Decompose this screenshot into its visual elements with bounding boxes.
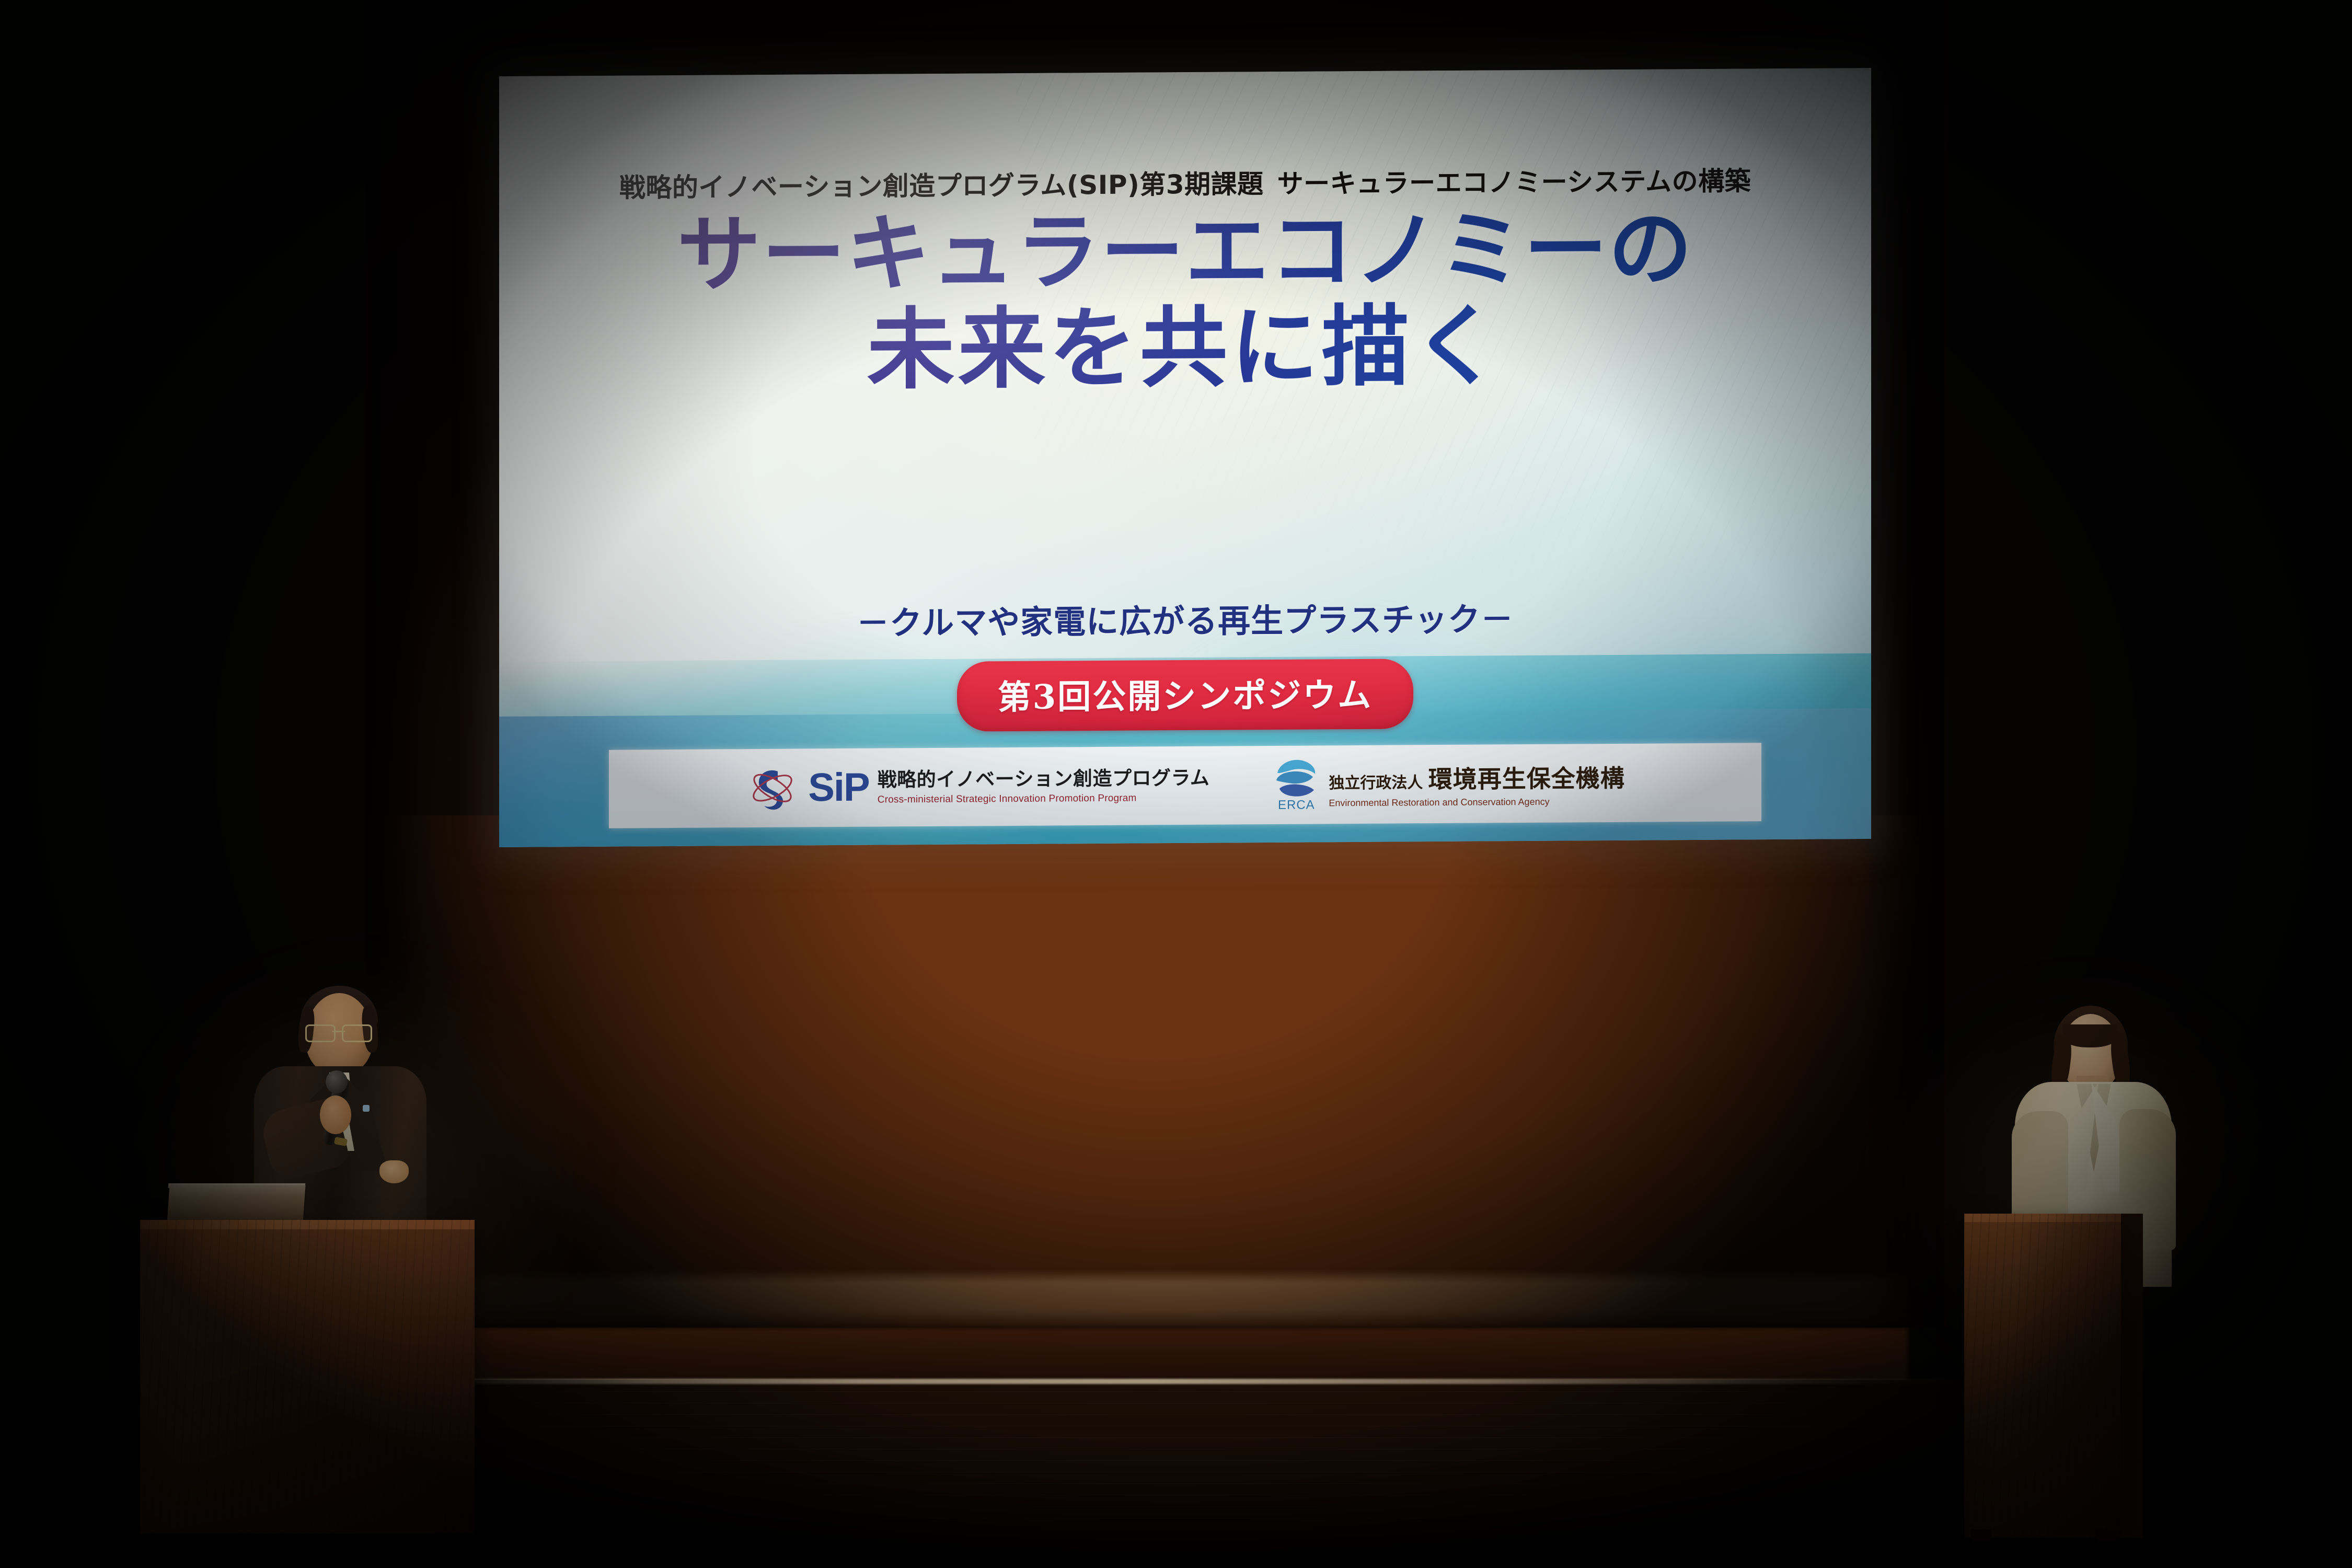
erca-name-jp: 独立行政法人 環境再生保全機構 — [1329, 759, 1624, 795]
projection-screen: 戦略的イノベーション創造プログラム(SIP)第3期課題サーキュラーエコノミーシス… — [499, 68, 1871, 847]
slide-kicker: 戦略的イノベーション創造プログラム(SIP)第3期課題サーキュラーエコノミーシス… — [499, 159, 1871, 205]
slide-badge-row: 第3回公開シンポジウム — [499, 656, 1871, 734]
sip-name-jp: 戦略的イノベーション創造プログラム — [878, 767, 1210, 791]
podium-left-shading — [140, 1220, 475, 1534]
erca-mark-wrap: ERCA — [1272, 757, 1320, 813]
title-line-2: 未来を共に描く — [499, 298, 1871, 398]
erca-name-prefix: 独立行政法人 — [1329, 774, 1423, 792]
left-speaker-hand — [320, 1096, 351, 1134]
sip-name-en: Cross-ministerial Strategic Innovation P… — [878, 792, 1210, 805]
erca-name-main: 環境再生保全機構 — [1428, 764, 1625, 793]
sip-wordmark: SiP — [808, 769, 869, 805]
lectern-foot-left — [1970, 1529, 1991, 1541]
auditorium-scene: 戦略的イノベーション創造プログラム(SIP)第3期課題サーキュラーエコノミーシス… — [0, 0, 2352, 1568]
slide-title: サーキュラーエコノミーの 未来を共に描く — [499, 204, 1871, 398]
kicker-theme: サーキュラーエコノミーシステムの構築 — [1277, 166, 1751, 199]
glasses-lens-right — [342, 1024, 372, 1042]
sip-logo-icon — [745, 761, 800, 816]
laptop — [167, 1185, 305, 1223]
lectern-right — [1964, 1214, 2121, 1538]
slide-logo-strip: SiP 戦略的イノベーション創造プログラム Cross-ministerial … — [609, 743, 1761, 828]
erca-logo: ERCA 独立行政法人 環境再生保全機構 Environmental Resto… — [1272, 755, 1624, 813]
right-speaker-bangs — [2063, 1024, 2117, 1047]
title-line-1: サーキュラーエコノミーの — [499, 204, 1871, 299]
podium-left — [140, 1220, 475, 1534]
glasses-lens-left — [305, 1024, 336, 1042]
slide-content: 戦略的イノベーション創造プログラム(SIP)第3期課題サーキュラーエコノミーシス… — [499, 68, 1871, 847]
microphone-head-icon — [326, 1070, 348, 1093]
left-speaker-resting-hand — [379, 1160, 409, 1183]
left-speaker-lapel-pin — [363, 1105, 370, 1112]
sip-logo-text: 戦略的イノベーション創造プログラム Cross-ministerial Stra… — [878, 767, 1210, 805]
kicker-program: 戦略的イノベーション創造プログラム(SIP)第3期課題 — [619, 169, 1264, 203]
lectern-right-side — [2121, 1214, 2143, 1538]
sip-logo: SiP 戦略的イノベーション創造プログラム Cross-ministerial … — [745, 758, 1209, 815]
lectern-foot-right — [2096, 1529, 2117, 1541]
lectern-right-shading — [1964, 1214, 2121, 1538]
erca-logo-text: 独立行政法人 環境再生保全機構 Environmental Restoratio… — [1329, 759, 1624, 808]
symposium-badge: 第3回公開シンポジウム — [957, 659, 1414, 731]
slide-subtitle: －クルマや家電に広がる再生プラスチック－ — [499, 591, 1871, 646]
erca-logo-icon — [1272, 757, 1320, 800]
erca-name-en: Environmental Restoration and Conservati… — [1329, 795, 1624, 808]
left-speaker-glasses-icon — [305, 1024, 372, 1040]
erca-abbrev: ERCA — [1278, 798, 1315, 812]
